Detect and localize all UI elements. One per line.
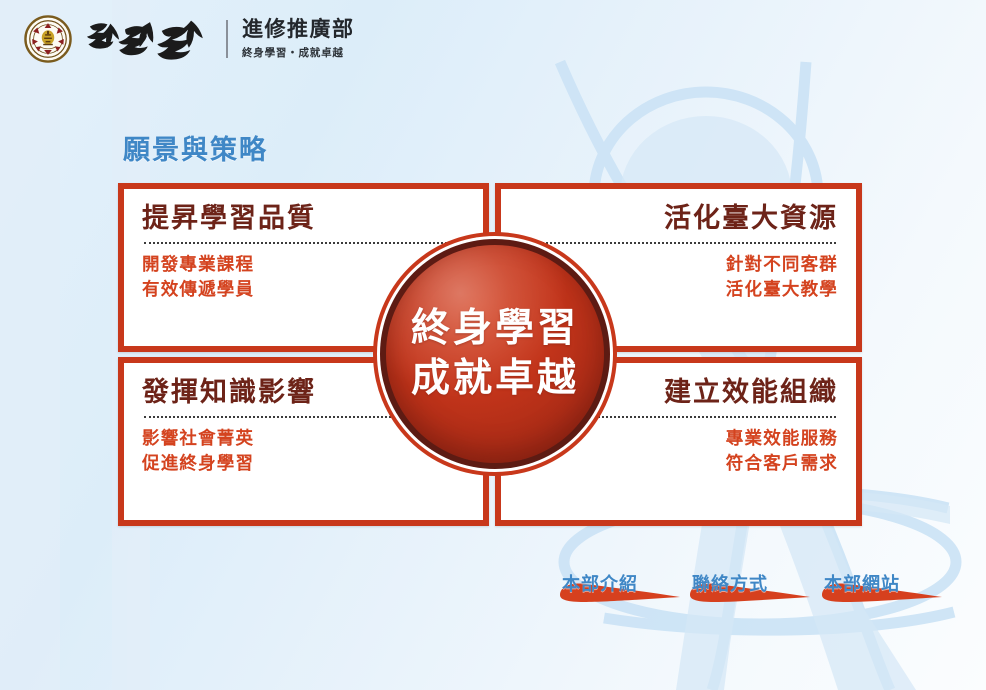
- circle-white-ring: 終身學習 成就卓越: [377, 236, 613, 472]
- nav-link-website[interactable]: 本部網站: [818, 570, 943, 604]
- page-header: 進修推廣部 終身學習・成就卓越: [0, 0, 986, 78]
- bottom-nav: 本部介紹 聯絡方式 本部網站: [556, 570, 956, 610]
- ntu-calligraphy-wordmark-icon: [84, 16, 216, 62]
- nav-link-label: 本部網站: [824, 570, 900, 596]
- quadrant-title: 活化臺大資源: [519, 203, 838, 235]
- circle-dark-ring: 終身學習 成就卓越: [380, 239, 610, 469]
- nav-link-contact[interactable]: 聯絡方式: [686, 570, 811, 604]
- ntu-seal-icon: [24, 15, 72, 63]
- quadrant-divider: [144, 242, 463, 244]
- header-divider: [226, 20, 228, 58]
- nav-link-about[interactable]: 本部介紹: [556, 570, 681, 604]
- nav-link-label: 聯絡方式: [692, 570, 768, 596]
- center-circle: 終身學習 成就卓越: [373, 232, 617, 476]
- center-slogan-line-1: 終身學習: [411, 304, 579, 354]
- circle-fill: 終身學習 成就卓越: [386, 245, 604, 463]
- quadrant-title: 提昇學習品質: [142, 203, 465, 235]
- page-title: 願景與策略: [123, 128, 268, 167]
- quadrant-line-2: 促進終身學習: [142, 452, 465, 477]
- center-slogan-line-2: 成就卓越: [411, 354, 579, 404]
- department-name: 進修推廣部: [242, 18, 355, 42]
- nav-link-label: 本部介紹: [562, 570, 638, 596]
- slide-canvas: 進修推廣部 終身學習・成就卓越 願景與策略 提昇學習品質 開發專業課程 有效傳遞…: [0, 0, 986, 690]
- header-text-group: 進修推廣部 終身學習・成就卓越: [242, 18, 355, 60]
- quadrant-line-2: 符合客戶需求: [519, 452, 838, 477]
- department-slogan: 終身學習・成就卓越: [242, 45, 355, 60]
- quadrant-divider: [521, 242, 836, 244]
